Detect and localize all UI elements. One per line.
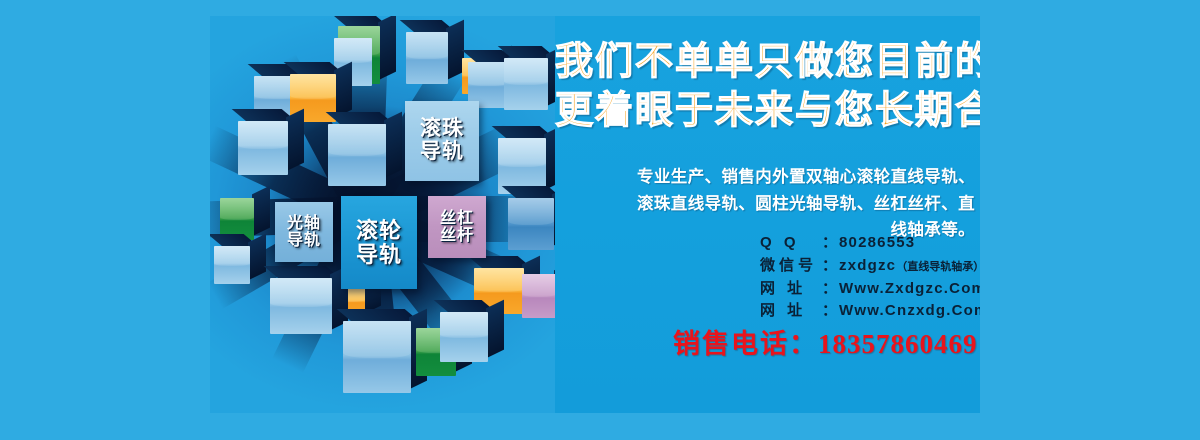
decorative-cube — [504, 58, 548, 110]
sales-phone-number[interactable]: 18357860469 — [818, 329, 978, 359]
product-chip-gunlun-daogui[interactable]: 滚轮 导轨 — [341, 196, 417, 289]
contact-row-website-1: 网 址 ： Www.Zxdgzc.Com — [760, 278, 980, 301]
product-chip-guangzhou-daogui[interactable]: 光轴 导轨 — [275, 202, 333, 262]
chip-label-line2: 导轨 — [287, 232, 321, 249]
contact-separator: ： — [822, 300, 837, 323]
contact-label: Q Q — [760, 232, 822, 255]
headline: 我们不单单只做您目前的订单 更着眼于未来与您长期合作 — [555, 38, 980, 137]
product-chip-gunzhu-daogui[interactable]: 滚珠 导轨 — [405, 101, 479, 181]
headline-line-1: 我们不单单只做您目前的订单 — [555, 38, 980, 87]
website-url-2[interactable]: Www.Cnzxdg.Com — [839, 300, 980, 323]
page-background: 滚珠 导轨 光轴 导轨 滚轮 导轨 丝杠 丝杆 我们不单单只做您目前的订单 更着… — [0, 0, 1200, 440]
chip-label-line1: 光轴 — [287, 215, 321, 232]
decorative-cube — [343, 321, 411, 393]
contact-row-qq: Q Q ： 80286553 — [760, 232, 980, 255]
decorative-cube — [214, 246, 250, 284]
chip-label-line1: 丝杠 — [440, 210, 474, 227]
decorative-cube — [406, 32, 448, 84]
qq-number[interactable]: 80286553 — [839, 232, 915, 255]
contact-row-wechat: 微信号 ： zxdgzc （直线导轨轴承） — [760, 255, 980, 278]
chip-label-line2: 导轨 — [356, 243, 402, 267]
decorative-cube — [508, 198, 554, 250]
contact-separator: ： — [822, 232, 837, 255]
chip-label-line2: 丝杆 — [440, 227, 474, 244]
wechat-id[interactable]: zxdgzc — [839, 255, 896, 278]
headline-line-2: 更着眼于未来与您长期合作 — [555, 87, 980, 136]
decorative-cube — [238, 121, 288, 175]
description-line-1: 专业生产、销售内外置双轴心滚轮直线导轨、 — [627, 164, 975, 191]
decorative-cube — [270, 278, 332, 334]
banner-text-panel: 我们不单单只做您目前的订单 更着眼于未来与您长期合作 专业生产、销售内外置双轴心… — [555, 16, 980, 413]
exploding-cubes-artwork: 滚珠 导轨 光轴 导轨 滚轮 导轨 丝杠 丝杆 — [210, 16, 555, 413]
contact-info-block: Q Q ： 80286553 微信号 ： zxdgzc （直线导轨轴承） 网 址… — [760, 232, 980, 323]
sales-phone[interactable]: 销售电话：18357860469 — [673, 322, 978, 361]
contact-label: 网 址 — [760, 300, 822, 323]
contact-separator: ： — [822, 255, 837, 278]
contact-separator: ： — [822, 278, 837, 301]
chip-label-line1: 滚轮 — [356, 219, 402, 243]
decorative-cube — [522, 274, 555, 318]
wechat-note: （直线导轨轴承） — [896, 259, 980, 276]
chip-label-line2: 导轨 — [420, 141, 464, 164]
contact-label: 网 址 — [760, 278, 822, 301]
product-chip-sigang-sigan[interactable]: 丝杠 丝杆 — [428, 196, 486, 258]
contact-label: 微信号 — [760, 255, 822, 278]
promo-banner: 滚珠 导轨 光轴 导轨 滚轮 导轨 丝杠 丝杆 我们不单单只做您目前的订单 更着… — [210, 16, 980, 413]
contact-row-website-2: 网 址 ： Www.Cnzxdg.Com — [760, 300, 980, 323]
decorative-cube — [440, 312, 488, 362]
description-line-2: 滚珠直线导轨、圆柱光轴导轨、丝杠丝杆、直 — [627, 191, 975, 218]
website-url-1[interactable]: Www.Zxdgzc.Com — [839, 278, 980, 301]
decorative-cube — [328, 124, 386, 186]
sales-phone-label: 销售电话： — [673, 329, 818, 359]
chip-label-line1: 滚珠 — [420, 118, 464, 141]
